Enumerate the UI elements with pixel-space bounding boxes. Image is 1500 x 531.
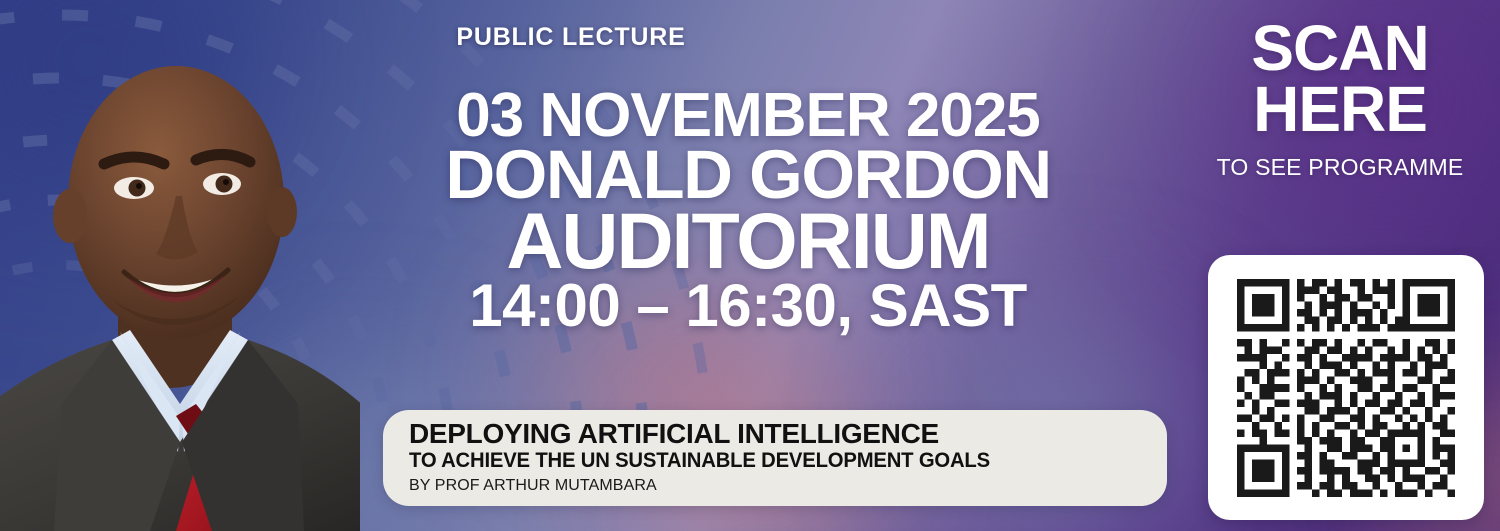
scan-panel: SCAN HERE TO SEE PROGRAMME [1185,18,1495,181]
qr-code-card[interactable] [1208,255,1484,520]
caption-byline: BY PROF ARTHUR MUTAMBARA [409,476,1167,497]
headline-block: 03 NOVEMBER 2025 DONALD GORDON AUDITORIU… [392,86,1104,335]
scan-label-line1: SCAN [1185,18,1495,79]
headline-time: 14:00 – 16:30, SAST [392,277,1104,335]
scan-label-line2: HERE [1185,79,1495,140]
public-lecture-banner: PUBLIC LECTURE 03 NOVEMBER 2025 DONALD G… [0,0,1500,531]
speaker-portrait [0,0,360,531]
qr-code-icon[interactable] [1233,279,1459,497]
lecture-caption-box: DEPLOYING ARTIFICIAL INTELLIGENCE TO ACH… [383,410,1167,506]
caption-title: DEPLOYING ARTIFICIAL INTELLIGENCE [409,419,1167,449]
caption-subtitle: TO ACHIEVE THE UN SUSTAINABLE DEVELOPMEN… [409,449,990,473]
headline-venue-line2: AUDITORIUM [392,203,1104,280]
scan-subtitle: TO SEE PROGRAMME [1185,154,1495,181]
